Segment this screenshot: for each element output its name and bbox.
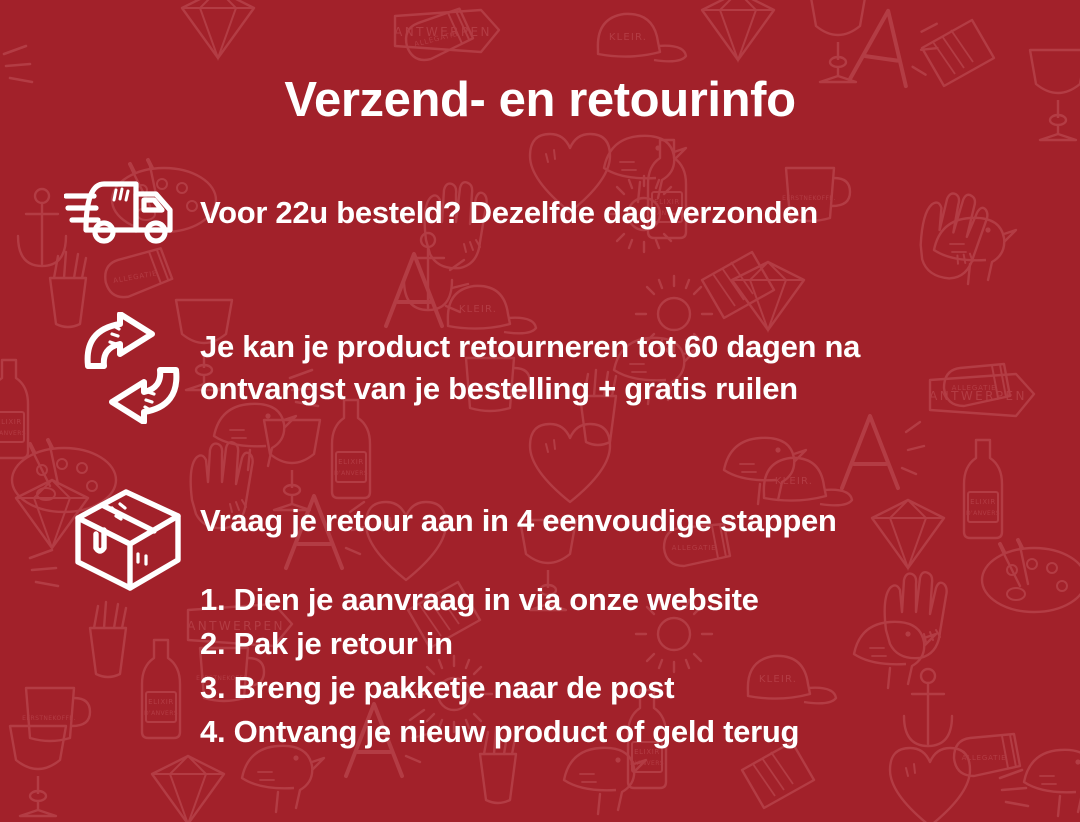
shipping-returns-banner: ELIXIR D'ANVERS ANTWERPEN KLEIR. <box>0 0 1080 822</box>
steps-heading: Vraag je retour aan in 4 eenvoudige stap… <box>200 500 837 542</box>
steps-heading-wrap: Vraag je retour aan in 4 eenvoudige stap… <box>200 500 837 542</box>
returns-text-line1: Je kan je product retourneren tot 60 dag… <box>200 326 1030 368</box>
step-item-1: 1. Dien je aanvraag in via onze website <box>200 578 799 622</box>
delivery-truck-icon <box>64 176 182 244</box>
page-title: Verzend- en retourinfo <box>0 72 1080 128</box>
shipping-text: Voor 22u besteld? Dezelfde dag verzonden <box>200 192 818 234</box>
banner-content: Verzend- en retourinfo <box>0 0 1080 822</box>
returns-text-line2: ontvangst van je bestelling + gratis rui… <box>200 368 1030 410</box>
step-item-3: 3. Breng je pakketje naar de post <box>200 666 799 710</box>
returns-text: Je kan je product retourneren tot 60 dag… <box>200 326 1030 410</box>
steps-list: 1. Dien je aanvraag in via onze website … <box>200 578 799 754</box>
return-exchange-arrows-icon <box>76 312 188 424</box>
step-item-4: 4. Ontvang je nieuw product of geld teru… <box>200 710 799 754</box>
package-box-icon <box>70 486 186 592</box>
step-item-2: 2. Pak je retour in <box>200 622 799 666</box>
